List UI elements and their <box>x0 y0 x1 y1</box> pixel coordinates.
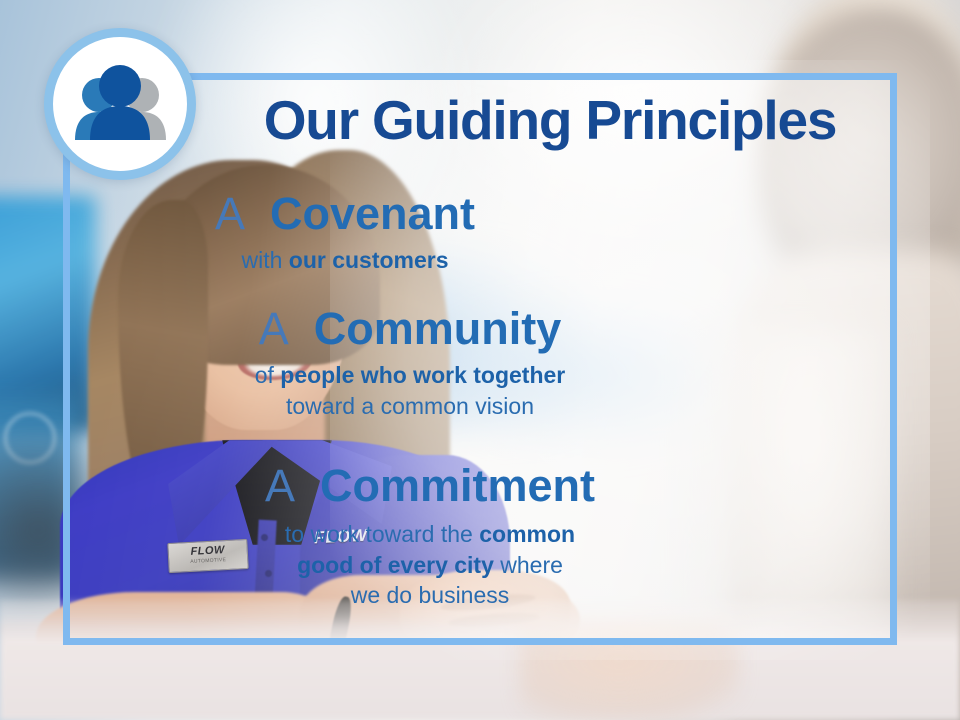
principle-article: A <box>215 188 258 239</box>
principle-heading-commitment: A Commitment <box>0 462 860 509</box>
subtext-line: to work toward the common <box>0 519 860 549</box>
principle-keyword: Commitment <box>320 460 595 511</box>
principle-article: A <box>265 460 308 511</box>
page-title: Our Guiding Principles <box>215 93 885 148</box>
subtext-line: toward a common vision <box>0 391 820 421</box>
principle-subtext-community: of people who work together toward a com… <box>0 360 820 421</box>
banner-graphic: FLOW AUTOMOTIVE FLOW <box>0 0 960 720</box>
desk-surface <box>0 600 960 720</box>
people-group-icon <box>44 28 196 180</box>
principle-article: A <box>259 303 302 354</box>
subtext-line: good of every city where <box>0 550 860 580</box>
principle-block-commitment: A Commitment to work toward the common g… <box>0 462 860 610</box>
principle-block-community: A Community of people who work together … <box>0 305 820 421</box>
principle-subtext-covenant: with our customers <box>0 245 690 275</box>
principle-block-covenant: A Covenant with our customers <box>0 190 690 276</box>
principle-heading-community: A Community <box>0 305 820 352</box>
blurred-person-hand <box>520 620 740 720</box>
subtext-line: with our customers <box>0 245 690 275</box>
subtext-line: we do business <box>0 580 860 610</box>
principle-subtext-commitment: to work toward the common good of every … <box>0 519 860 610</box>
subtext-line: of people who work together <box>0 360 820 390</box>
principle-heading-covenant: A Covenant <box>0 190 690 237</box>
principle-keyword: Covenant <box>270 188 475 239</box>
principle-keyword: Community <box>314 303 562 354</box>
